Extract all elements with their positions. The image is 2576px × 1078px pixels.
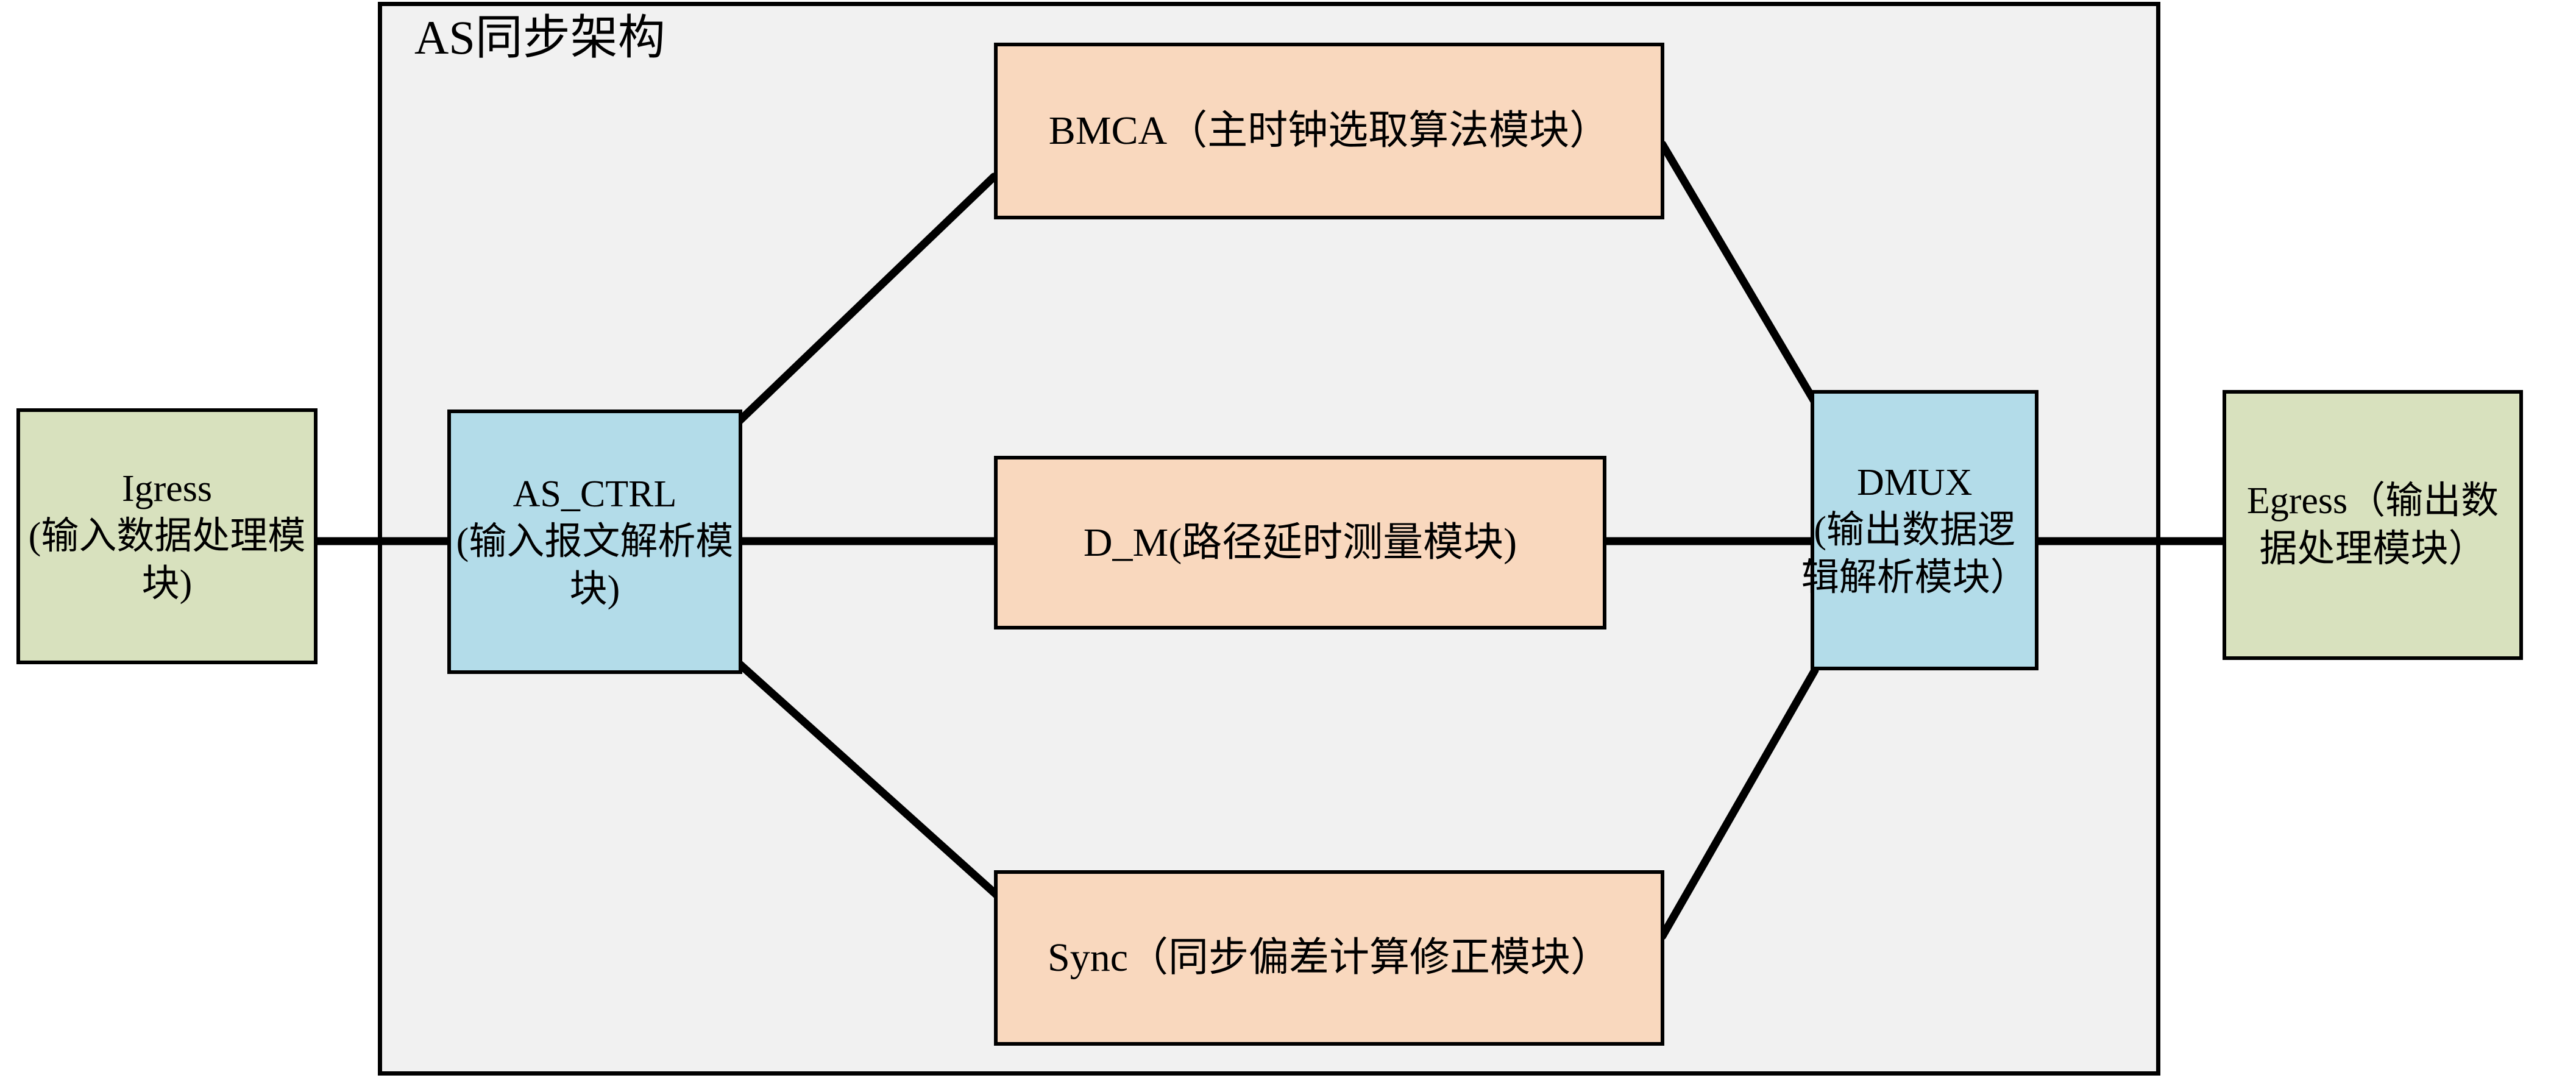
node-bmca-label: BMCA（主时钟选取算法模块）	[998, 105, 1661, 156]
node-igress[interactable]: Igress(输入数据处理模块)	[16, 408, 318, 664]
node-as-ctrl[interactable]: AS_CTRL(输入报文解析模块)	[447, 410, 742, 674]
node-as-ctrl-label: AS_CTRL(输入报文解析模块)	[451, 470, 739, 613]
node-sync-label: Sync（同步偏差计算修正模块）	[998, 932, 1661, 983]
node-sync[interactable]: Sync（同步偏差计算修正模块）	[994, 870, 1664, 1046]
diagram-canvas: AS同步架构 Igress(输入数据处理模块) AS_CTRL(输入报文解析模块…	[0, 0, 2576, 1078]
node-dmux-label: DMUX(输出数据逻辑解析模块）	[1794, 459, 2035, 601]
node-dmux[interactable]: DMUX(输出数据逻辑解析模块）	[1811, 390, 2038, 670]
node-igress-label: Igress(输入数据处理模块)	[20, 465, 314, 608]
diagram-title: AS同步架构	[414, 11, 665, 64]
node-bmca[interactable]: BMCA（主时钟选取算法模块）	[994, 43, 1664, 219]
node-d-m-label: D_M(路径延时测量模块)	[998, 517, 1603, 568]
node-egress[interactable]: Egress（输出数据处理模块）	[2223, 390, 2523, 660]
node-d-m[interactable]: D_M(路径延时测量模块)	[994, 456, 1606, 629]
node-egress-label: Egress（输出数据处理模块）	[2226, 477, 2519, 572]
